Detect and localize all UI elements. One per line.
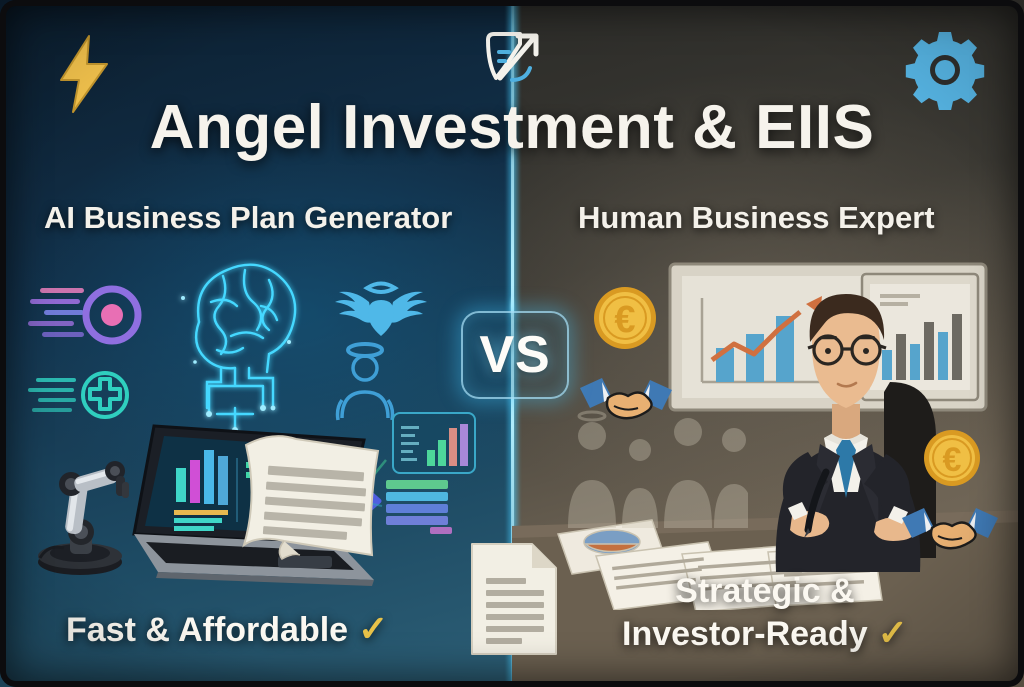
- comparison-infographic: € €: [0, 0, 1024, 687]
- left-subtitle: AI Business Plan Generator: [44, 200, 452, 236]
- euro-symbol: €: [614, 299, 635, 341]
- angel-person-icon: [330, 340, 400, 422]
- handshake-icon: [578, 372, 674, 424]
- euro-coin-icon: €: [592, 285, 658, 351]
- document-page-icon: [228, 425, 388, 575]
- robot-arm-icon: [18, 440, 138, 580]
- check-icon: ✓: [878, 612, 908, 653]
- check-icon: ✓: [358, 608, 388, 649]
- purple-target-icon: [82, 285, 142, 345]
- right-caption: Strategic & Investor-Ready✓: [622, 570, 908, 655]
- left-caption: Fast & Affordable✓: [66, 608, 388, 650]
- document-icon: [468, 540, 560, 658]
- euro-symbol: €: [943, 441, 962, 479]
- growth-document-icon: [480, 26, 542, 88]
- ai-brain-icon: [165, 250, 305, 440]
- motion-lines-icon: [28, 372, 80, 420]
- motion-lines-icon: [28, 282, 88, 344]
- right-caption-line1: Strategic &: [622, 570, 908, 612]
- angel-wings-icon: [335, 278, 427, 340]
- right-subtitle: Human Business Expert: [578, 200, 935, 236]
- page-title: Angel Investment & EIIS: [0, 92, 1024, 163]
- teal-plus-icon: [80, 370, 130, 420]
- euro-coin-icon: €: [922, 428, 982, 488]
- left-caption-text: Fast & Affordable: [66, 611, 348, 649]
- people-silhouette-icon: [558, 410, 748, 530]
- vs-label: VS: [479, 325, 550, 385]
- vs-badge: VS: [461, 311, 569, 399]
- right-caption-line2: Investor-Ready: [622, 615, 868, 653]
- handshake-icon: [900, 500, 1000, 552]
